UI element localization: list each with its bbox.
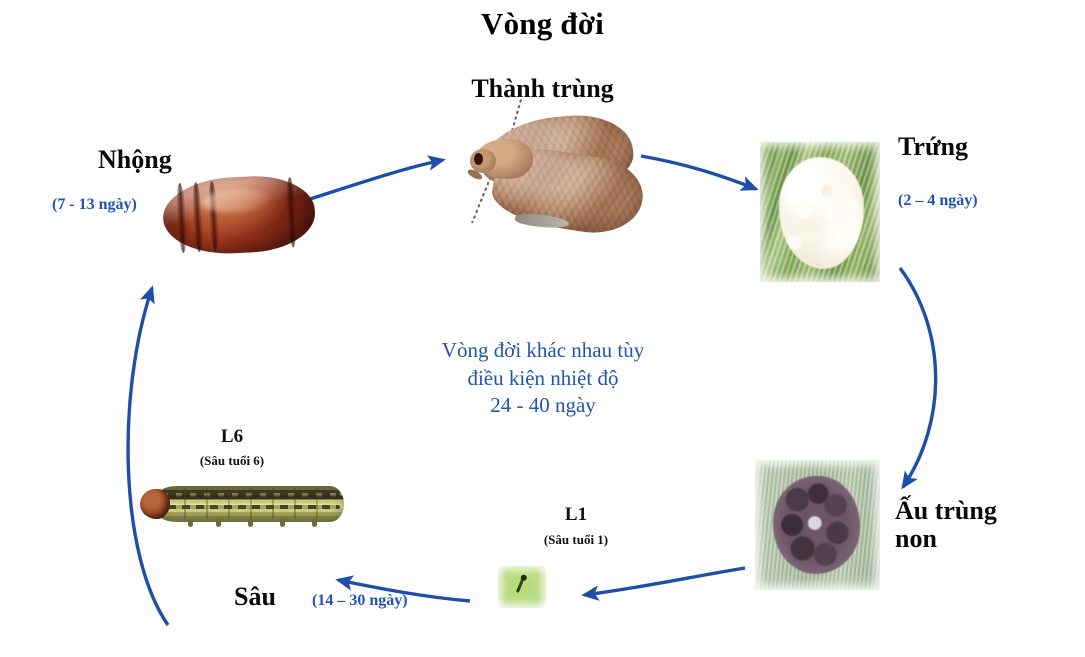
arrow-pupa-to-adult — [310, 160, 443, 199]
moth-eye — [474, 153, 483, 165]
stage-label-egg: Trứng — [898, 133, 968, 161]
center-note-line1: Vòng đời khác nhau tùy — [343, 337, 743, 365]
arrow-young-larva-to-l1 — [584, 568, 745, 595]
caterpillar-leg — [312, 519, 317, 527]
instar-note-l6: (Sâu tuổi 6) — [176, 453, 288, 469]
stage-label-pupa: Nhộng — [98, 146, 172, 174]
caterpillar-segment — [316, 488, 318, 519]
caterpillar-segment — [184, 488, 186, 519]
caterpillar-leg — [280, 519, 285, 527]
caterpillar-head — [140, 489, 170, 519]
caterpillar-segment — [206, 488, 208, 519]
instar-label-l6: L6 — [186, 427, 278, 448]
instar-label-l1: L1 — [528, 505, 624, 526]
caterpillar-segment — [294, 488, 296, 519]
lifecycle-diagram: Vòng đời Thành trùng Trứng (2 – 4 ngày) … — [0, 0, 1085, 657]
caterpillar-segment — [228, 488, 230, 519]
caterpillar-lateral-stripe — [154, 505, 340, 509]
stage-duration-larva: (14 – 30 ngày) — [312, 592, 408, 610]
egg-mass — [779, 157, 864, 269]
young-larvae-photo — [755, 460, 880, 590]
arrow-larva-to-pupa — [128, 288, 168, 625]
diagram-title: Vòng đời — [0, 6, 1085, 42]
stage-label-young-larva-line2: non — [895, 525, 997, 553]
stage-duration-egg: (2 – 4 ngày) — [898, 192, 978, 210]
moth-photo — [445, 95, 660, 260]
arrow-egg-to-young-larva — [900, 268, 936, 487]
pupa-segment — [191, 182, 204, 252]
instar-note-l1: (Sâu tuổi 1) — [518, 532, 634, 548]
center-note-line3: 24 - 40 ngày — [343, 392, 743, 420]
caterpillar-leg — [188, 519, 193, 527]
l1-larva — [516, 576, 525, 593]
stage-label-larva: Sâu — [234, 583, 276, 611]
caterpillar-segment — [250, 488, 252, 519]
young-larvae-cluster — [773, 476, 861, 575]
stage-duration-pupa: (7 - 13 ngày) — [52, 196, 137, 214]
pupa-segment — [285, 177, 298, 247]
caterpillar-leg — [216, 519, 221, 527]
stage-label-young-larva-line1: Ấu trùng — [895, 497, 997, 525]
center-note: Vòng đời khác nhau tùy điều kiện nhiệt đ… — [343, 337, 743, 420]
center-note-line2: điều kiện nhiệt độ — [343, 365, 743, 393]
caterpillar-segment — [272, 488, 274, 519]
l1-larva-photo — [498, 566, 546, 608]
stage-label-young-larva: Ấu trùng non — [895, 497, 997, 553]
caterpillar-photo — [140, 480, 348, 528]
caterpillar-leg — [248, 519, 253, 527]
caterpillar-dorsal-stripe — [154, 493, 340, 497]
egg-mass-photo — [760, 142, 880, 282]
egg-texture — [779, 157, 864, 269]
